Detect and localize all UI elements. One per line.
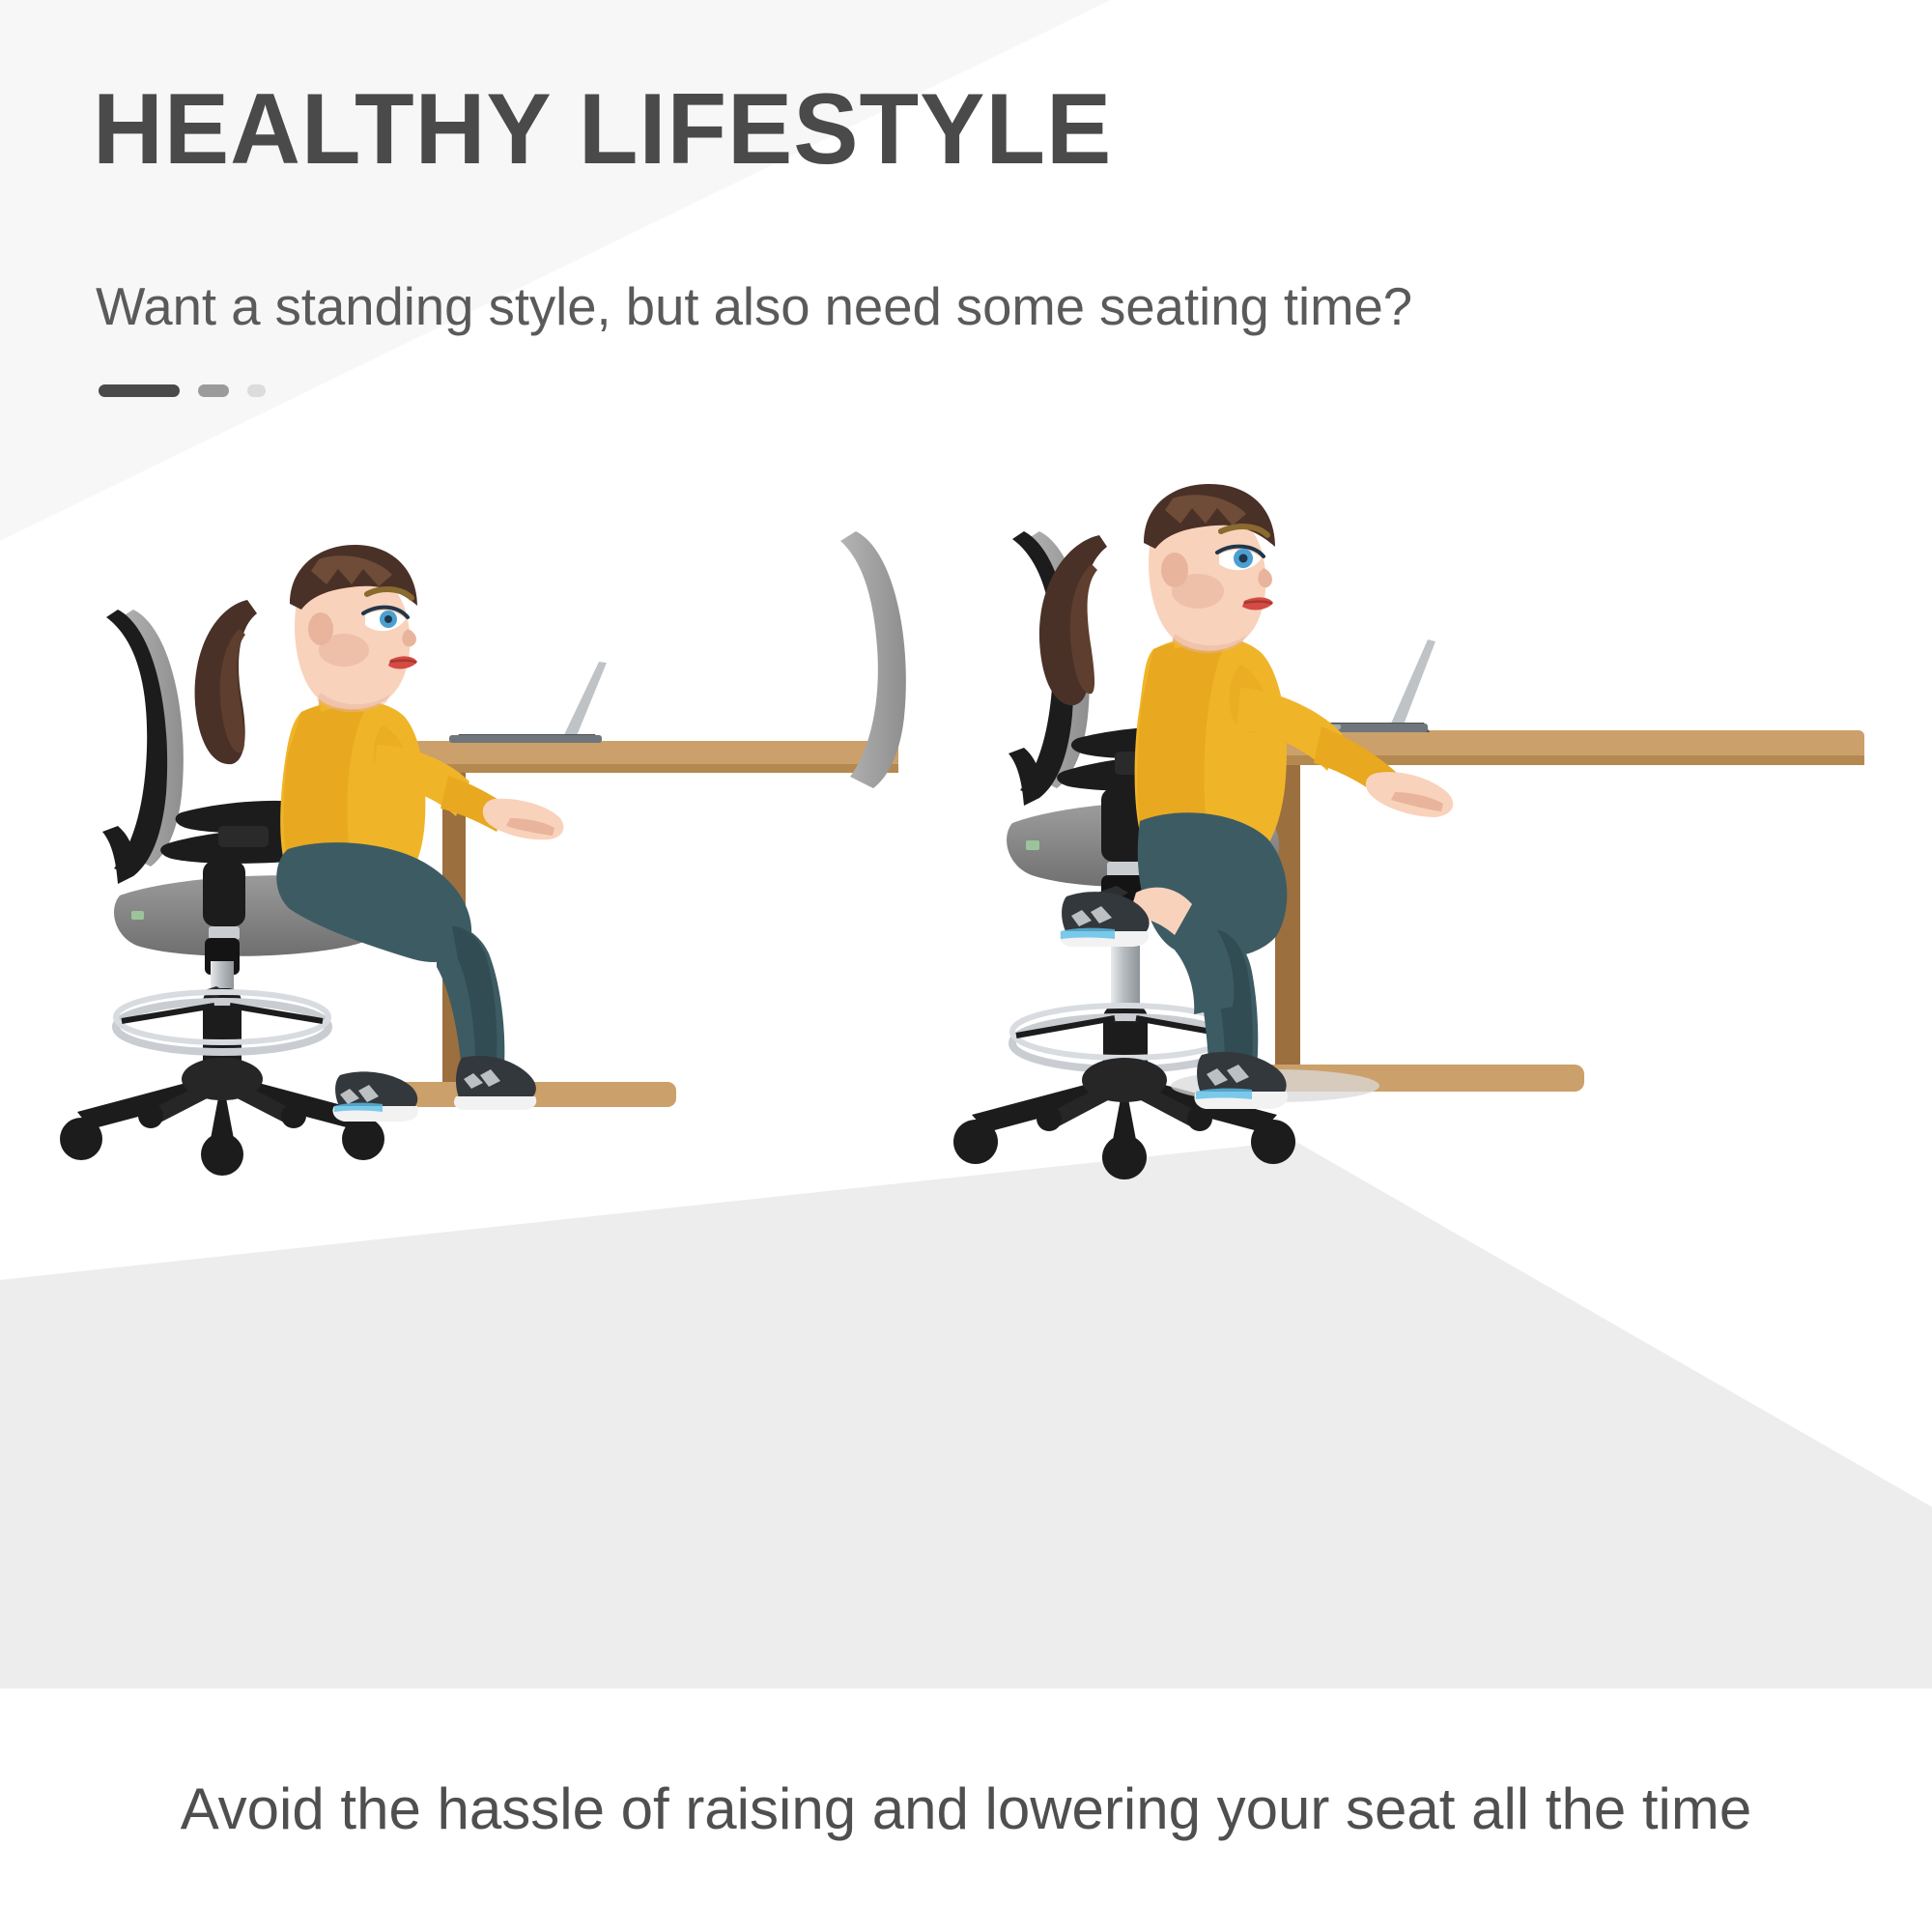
pagination-indicator[interactable] xyxy=(99,384,266,397)
standing-posture-illustration xyxy=(956,502,1884,1179)
head-seated xyxy=(290,545,417,712)
head-standing xyxy=(1144,484,1275,653)
pagination-pip-3[interactable] xyxy=(247,384,266,397)
shoe-standing xyxy=(1194,1052,1288,1109)
shoe-front xyxy=(454,1056,536,1110)
desk-tall xyxy=(1198,730,1864,1092)
pagination-pip-2[interactable] xyxy=(198,384,229,397)
page-subtitle: Want a standing style, but also need som… xyxy=(96,275,1412,337)
shoe-rear xyxy=(332,1071,418,1122)
infographic-page: HEALTHY LIFESTYLE Want a standing style,… xyxy=(0,0,1932,1932)
footer-caption: Avoid the hassle of raising and lowering… xyxy=(0,1776,1932,1842)
laptop-left xyxy=(449,662,607,743)
pagination-pip-1[interactable] xyxy=(99,384,180,397)
seated-posture-illustration xyxy=(58,536,927,1174)
page-title: HEALTHY LIFESTYLE xyxy=(93,79,1112,180)
